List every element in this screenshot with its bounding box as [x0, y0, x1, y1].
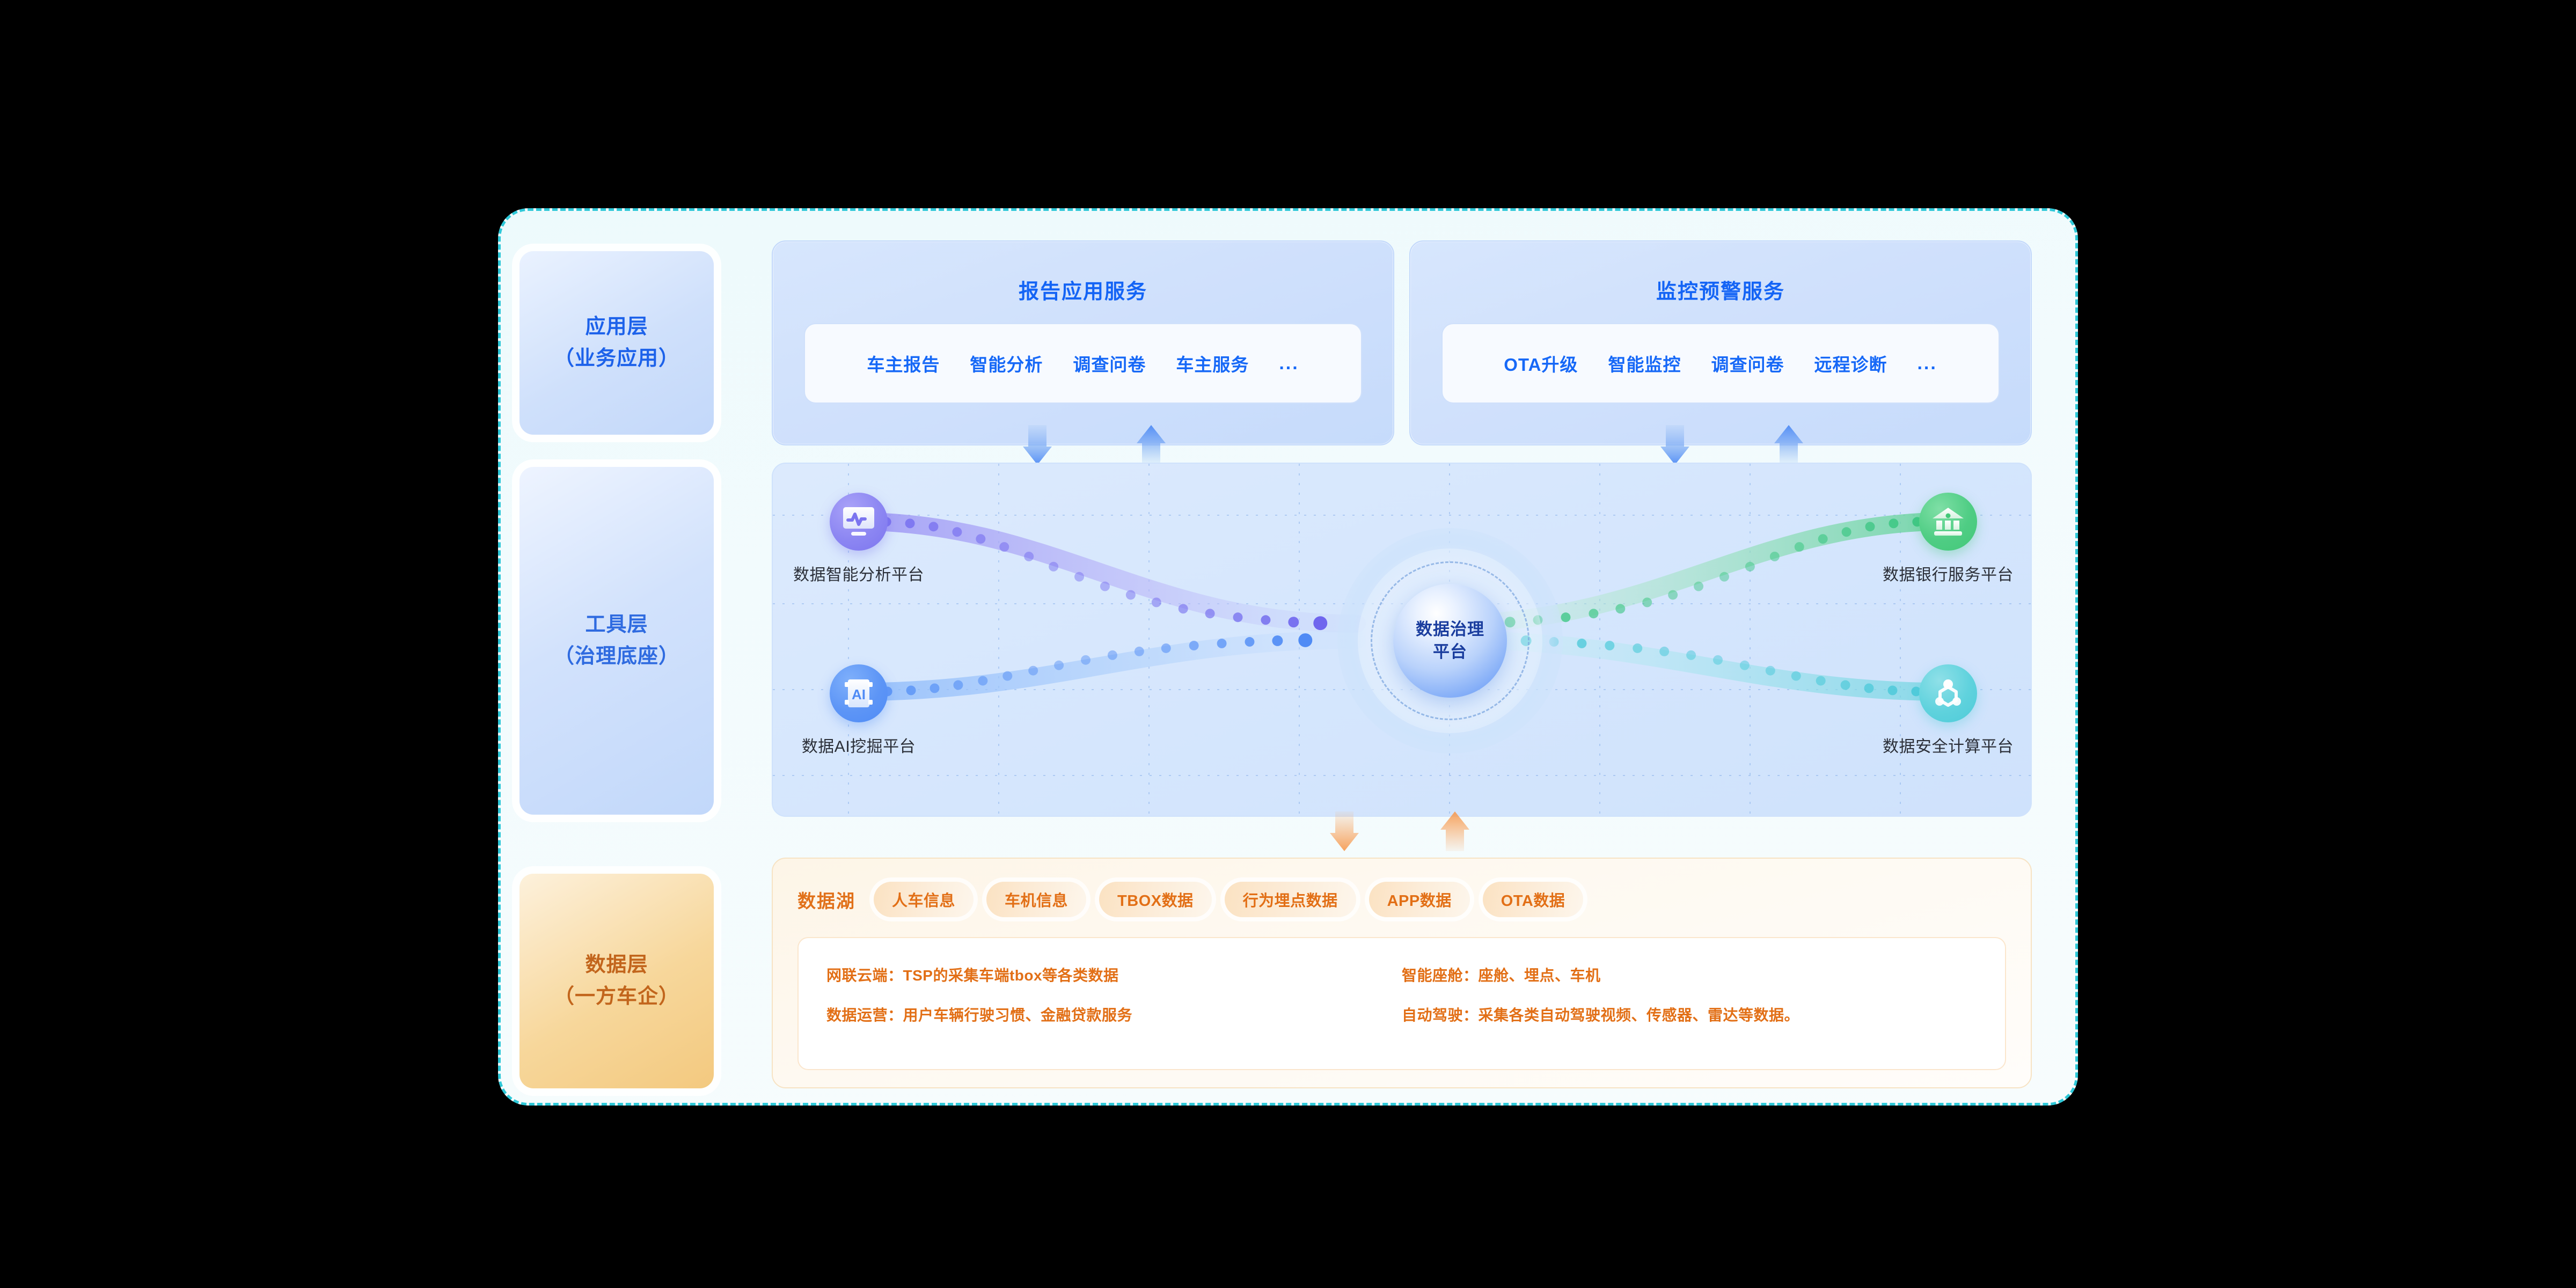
- app-card-monitor-items: OTA升级 智能监控 调查问卷 远程诊断 ...: [1441, 323, 2000, 404]
- app-item-smart-monitor[interactable]: 智能监控: [1608, 350, 1681, 376]
- hub-sphere: 数据治理 平台: [1393, 584, 1507, 698]
- monitor-waveform-icon: [830, 493, 888, 551]
- layer-data-subtitle: （一方车企）: [554, 981, 679, 1013]
- app-item-owner-service[interactable]: 车主服务: [1176, 350, 1249, 376]
- data-description-column-left: 网联云端：TSP的采集车端tbox等各类数据 数据运营：用户车辆行驶习惯、金融贷…: [826, 964, 1402, 1043]
- app-item-questionnaire-2[interactable]: 调查问卷: [1711, 350, 1784, 376]
- platform-node-analytics-label: 数据智能分析平台: [778, 561, 939, 585]
- data-lake-pill-tbox[interactable]: TBOX数据: [1099, 882, 1212, 917]
- layer-chip-tool[interactable]: 工具层 （治理底座）: [519, 467, 714, 815]
- layer-app-subtitle: （业务应用）: [554, 343, 679, 375]
- app-item-remote-diagnosis[interactable]: 远程诊断: [1814, 350, 1887, 376]
- app-item-more-report[interactable]: ...: [1279, 353, 1299, 374]
- platform-node-data-bank[interactable]: 数据银行服务平台: [1868, 493, 2029, 585]
- tool-layer-panel: 数据治理 平台 数据智能分析平台: [772, 463, 2032, 817]
- data-desc-connected-cloud: 网联云端：TSP的采集车端tbox等各类数据: [826, 964, 1402, 985]
- app-card-monitor-title: 监控预警服务: [1410, 275, 2031, 304]
- data-description-box: 网联云端：TSP的采集车端tbox等各类数据 数据运营：用户车辆行驶习惯、金融贷…: [797, 937, 2006, 1070]
- app-item-ota-upgrade[interactable]: OTA升级: [1504, 350, 1578, 376]
- data-lake-pill-person-vehicle[interactable]: 人车信息: [874, 882, 974, 917]
- platform-node-analytics[interactable]: 数据智能分析平台: [778, 493, 939, 585]
- app-card-monitor-service[interactable]: 监控预警服务 OTA升级 智能监控 调查问卷 远程诊断 ...: [1409, 240, 2032, 445]
- data-desc-autonomous-driving: 自动驾驶：采集各类自动驾驶视频、传感器、雷达等数据。: [1402, 1004, 1977, 1025]
- arrow-down-tool-to-data: [1330, 811, 1359, 851]
- platform-node-ai-mining[interactable]: AI 数据AI挖掘平台: [778, 664, 939, 757]
- platform-node-secure-compute-label: 数据安全计算平台: [1868, 733, 2029, 757]
- data-lake-row: 数据湖 人车信息 车机信息 TBOX数据 行为埋点数据 APP数据 OTA数据: [797, 875, 1583, 924]
- governance-hub[interactable]: 数据治理 平台: [1337, 528, 1563, 753]
- layer-app-title: 应用层: [585, 311, 648, 343]
- app-item-owner-report[interactable]: 车主报告: [867, 350, 940, 376]
- layer-chip-data[interactable]: 数据层 （一方车企）: [519, 874, 714, 1088]
- arrow-down-app-to-tool-right: [1660, 425, 1689, 465]
- platform-node-secure-compute[interactable]: 数据安全计算平台: [1868, 664, 2029, 757]
- data-desc-data-operations: 数据运营：用户车辆行驶习惯、金融贷款服务: [826, 1004, 1402, 1025]
- arrow-down-app-to-tool-left: [1023, 425, 1052, 465]
- ai-chip-icon: AI: [830, 664, 888, 722]
- hub-label-line2: 平台: [1433, 641, 1467, 663]
- app-card-report-title: 报告应用服务: [773, 275, 1393, 304]
- layer-tool-subtitle: （治理底座）: [554, 641, 679, 672]
- data-desc-smart-cockpit: 智能座舱：座舱、埋点、车机: [1402, 964, 1977, 985]
- layer-tool-title: 工具层: [585, 609, 648, 641]
- data-lake-pill-vehicle-machine[interactable]: 车机信息: [986, 882, 1086, 917]
- app-card-report-service[interactable]: 报告应用服务 车主报告 智能分析 调查问卷 车主服务 ...: [772, 240, 1394, 445]
- data-description-column-right: 智能座舱：座舱、埋点、车机 自动驾驶：采集各类自动驾驶视频、传感器、雷达等数据。: [1402, 964, 1977, 1043]
- arrow-up-tool-to-app-left: [1137, 425, 1166, 465]
- platform-node-data-bank-label: 数据银行服务平台: [1868, 561, 2029, 585]
- arrow-up-tool-to-app-right: [1774, 425, 1803, 465]
- bank-building-icon: [1919, 493, 1977, 551]
- app-item-more-monitor[interactable]: ...: [1917, 353, 1937, 374]
- app-item-questionnaire[interactable]: 调查问卷: [1073, 350, 1146, 376]
- svg-text:AI: AI: [852, 686, 866, 702]
- data-lake-pill-app[interactable]: APP数据: [1369, 882, 1470, 917]
- platform-node-ai-mining-label: 数据AI挖掘平台: [778, 733, 939, 757]
- arrow-up-data-to-tool: [1440, 811, 1469, 851]
- layer-chip-application[interactable]: 应用层 （业务应用）: [519, 251, 714, 435]
- data-layer-panel: 数据湖 人车信息 车机信息 TBOX数据 行为埋点数据 APP数据 OTA数据 …: [772, 858, 2032, 1088]
- data-lake-pill-ota[interactable]: OTA数据: [1483, 882, 1584, 917]
- app-card-report-items: 车主报告 智能分析 调查问卷 车主服务 ...: [804, 323, 1362, 404]
- app-item-smart-analysis[interactable]: 智能分析: [970, 350, 1043, 376]
- hub-label-line1: 数据治理: [1416, 618, 1484, 641]
- data-lake-title: 数据湖: [797, 887, 855, 913]
- data-lake-pill-behavior-tracking[interactable]: 行为埋点数据: [1225, 882, 1356, 917]
- shield-network-icon: [1919, 664, 1977, 722]
- layer-data-title: 数据层: [585, 949, 648, 981]
